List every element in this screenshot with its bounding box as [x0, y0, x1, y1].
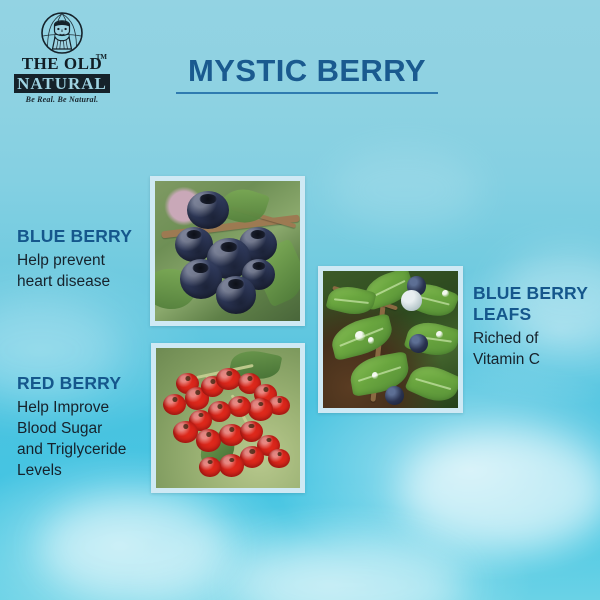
cloud-blob — [235, 540, 465, 600]
blueberry-leaves-photo — [323, 271, 458, 408]
berry-shape — [187, 191, 229, 229]
dew-drop — [368, 337, 375, 344]
berry-shape — [199, 457, 221, 477]
blueberry-photo-frame — [150, 176, 305, 326]
cloud-blob — [40, 495, 230, 600]
trademark-symbol: TM — [96, 48, 107, 66]
blueberry-cluster-photo — [155, 181, 300, 321]
dew-drop — [355, 331, 364, 341]
red-berry-cluster-photo — [156, 348, 300, 488]
red-berry-text-block: RED BERRY Help Improve Blood Sugar and T… — [17, 373, 157, 481]
berry-shape — [268, 449, 290, 469]
logo-tagline: Be Real. Be Natural. — [14, 95, 110, 104]
berry-shape — [401, 290, 421, 311]
blue-berry-leafs-heading: BLUE BERRY LEAFS — [473, 283, 595, 325]
logo-the-old-label: THE OLD — [22, 54, 103, 73]
logo-secondary-text: NATURAL — [14, 74, 110, 93]
cloud-blob — [400, 430, 600, 550]
berry-shape — [219, 454, 243, 476]
poster-canvas: THE OLDTM NATURAL Be Real. Be Natural. M… — [0, 0, 600, 600]
red-berry-description: Help Improve Blood Sugar and Triglycerid… — [17, 397, 157, 481]
page-title: MYSTIC BERRY — [176, 54, 438, 88]
berry-shape — [216, 368, 240, 390]
berry-shape — [196, 429, 220, 451]
goddess-face-emblem-icon — [40, 12, 84, 54]
leafs-photo-frame — [318, 266, 463, 413]
blue-berry-leafs-description: Riched of Vitamin C — [473, 328, 595, 370]
berry-shape — [228, 396, 251, 417]
title-underline — [176, 92, 438, 94]
berry-shape — [173, 421, 197, 443]
logo-primary-text: THE OLDTM — [14, 55, 110, 73]
berry-shape — [248, 398, 272, 420]
blue-berry-text-block: BLUE BERRY Help prevent heart disease — [17, 226, 152, 292]
cloud-blob — [330, 150, 480, 230]
blue-berry-heading: BLUE BERRY — [17, 226, 152, 247]
red-berry-heading: RED BERRY — [17, 373, 157, 394]
dew-drop — [442, 290, 449, 297]
blue-berry-description: Help prevent heart disease — [17, 250, 152, 292]
brand-logo: THE OLDTM NATURAL Be Real. Be Natural. — [14, 12, 110, 104]
page-title-wrapper: MYSTIC BERRY — [176, 54, 438, 94]
blue-berry-leafs-text-block: BLUE BERRY LEAFS Riched of Vitamin C — [473, 283, 595, 370]
redberry-photo-frame — [151, 343, 305, 493]
